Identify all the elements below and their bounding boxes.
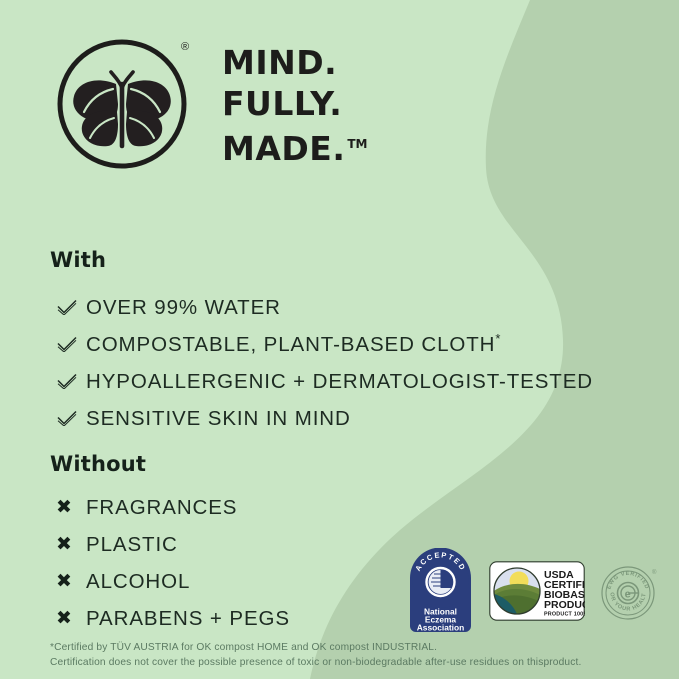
trademark-icon: TM [347,137,367,151]
ewg-arc-top: EWG VERIFIED [606,571,649,590]
ewg-registered-icon: ® [652,569,657,576]
list-item-label: SENSITIVE SKIN IN MIND [86,405,351,431]
with-benefits-list: OVER 99% WATER COMPOSTABLE, PLANT-BASED … [56,288,593,436]
cross-icon: ✖ [56,572,86,591]
list-item-label: FRAGRANCES [86,496,237,520]
with-section-title: With [50,248,106,272]
without-exclusions-list: ✖ FRAGRANCES ✖ PLASTIC ✖ ALCOHOL ✖ PARAB… [56,489,290,637]
list-item: COMPOSTABLE, PLANT-BASED CLOTH* [56,325,593,362]
list-item-label: HYPOALLERGENIC + DERMATOLOGIST-TESTED [86,368,593,394]
list-item: ✖ ALCOHOL [56,563,290,600]
certification-badges: ACCEPTED National Eczema Association [404,548,661,634]
footnote-line-1: *Certified by TÜV AUSTRIA for OK compost… [50,641,581,656]
footnote: *Certified by TÜV AUSTRIA for OK compost… [50,641,581,670]
nea-line-3: Association [417,623,464,633]
ewg-center-glyph: e [625,589,631,601]
brand-logo-block: ® MIND. FULLY. MADE.TM [56,34,368,174]
list-item: OVER 99% WATER [56,288,593,325]
list-item: SENSITIVE SKIN IN MIND [56,399,593,436]
without-section-title: Without [50,452,146,476]
list-item-label: ALCOHOL [86,570,190,594]
check-icon [56,410,86,426]
cross-icon: ✖ [56,609,86,628]
footnote-line-2: Certification does not cover the possibl… [50,656,581,671]
list-item: ✖ PLASTIC [56,526,290,563]
national-eczema-association-badge: ACCEPTED National Eczema Association [404,548,477,634]
wordmark-line-3: MADE. [222,129,345,168]
list-item-label: PARABENS + PEGS [86,607,290,631]
marketing-product-card: ® MIND. FULLY. MADE.TM With OVER 99% WAT… [0,0,679,679]
list-item: HYPOALLERGENIC + DERMATOLOGIST-TESTED [56,362,593,399]
wordmark-line-2: FULLY. [222,83,368,124]
list-item-label: COMPOSTABLE, PLANT-BASED CLOTH* [86,331,500,357]
list-item: ✖ FRAGRANCES [56,489,290,526]
usda-line-5: PRODUCT 100% [544,612,585,618]
butterfly-leaf-logo: ® [56,34,196,174]
registered-trademark-icon: ® [181,42,189,53]
list-item-label: OVER 99% WATER [86,294,281,320]
wordmark-line-1: MIND. [222,42,368,83]
cross-icon: ✖ [56,535,86,554]
check-icon [56,336,86,352]
usda-certified-biobased-product-badge: USDA CERTIFIED BIOBASED PRODUCT PRODUCT … [489,561,585,621]
list-item: ✖ PARABENS + PEGS [56,600,290,637]
list-item-label: PLASTIC [86,533,178,557]
usda-line-4: PRODUCT [544,599,585,611]
svg-text:EWG VERIFIED: EWG VERIFIED [606,571,649,590]
ewg-verified-badge: EWG VERIFIED FOR YOUR HEALTH e ® [599,560,661,622]
wordmark-line-3-wrap: MADE.TM [222,124,368,169]
cross-icon: ✖ [56,498,86,517]
check-icon [56,373,86,389]
check-icon [56,299,86,315]
wordmark: MIND. FULLY. MADE.TM [222,42,368,169]
butterfly-leaf-icon [56,34,196,174]
